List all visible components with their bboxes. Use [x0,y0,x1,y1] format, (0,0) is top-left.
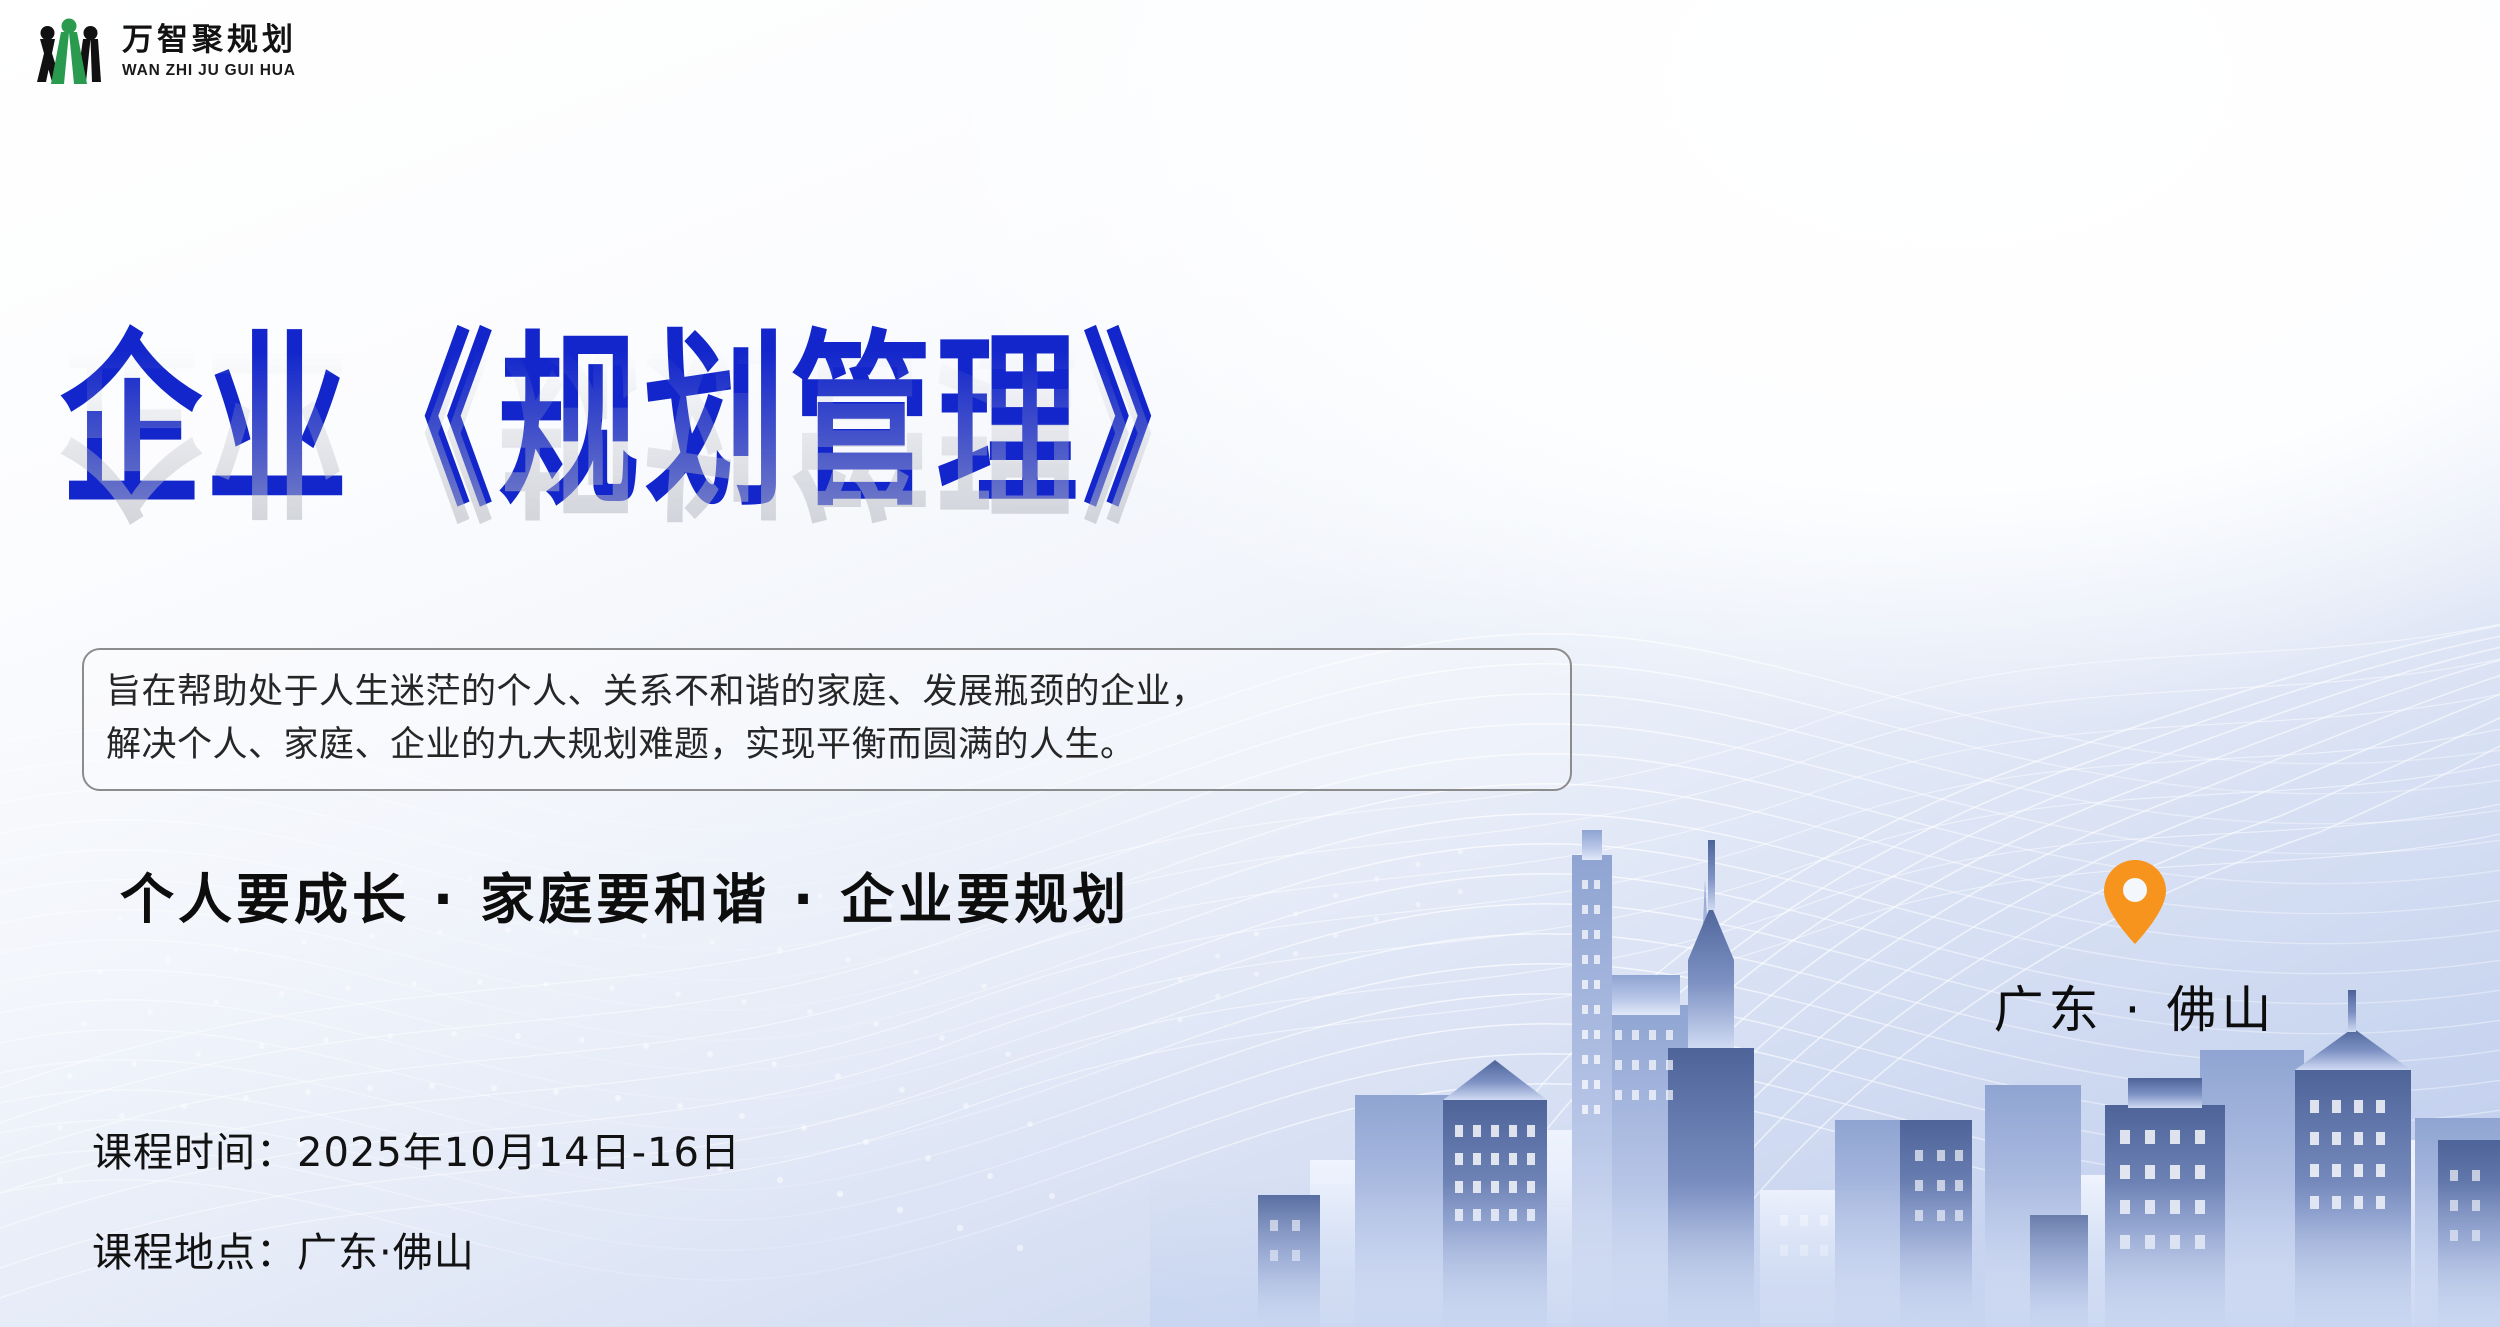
logo-wordmark: 万智聚规划 WAN ZHI JU GUI HUA [122,22,297,79]
three-people-mark-icon [30,14,108,86]
logo-cn-name: 万智聚规划 [122,24,297,55]
description-box: 旨在帮助处于人生迷茫的个人、关系不和谐的家庭、发展瓶颈的企业， 解决个人、家庭、… [82,648,1572,791]
description-line-1: 旨在帮助处于人生迷茫的个人、关系不和谐的家庭、发展瓶颈的企业， [106,666,1548,719]
location-block: 广东 · 佛山 [1955,860,2315,1042]
page-title-reflection: 企业《规划管理》 [60,325,1228,527]
poster-canvas: 万智聚规划 WAN ZHI JU GUI HUA 企业《规划管理》 企业《规划管… [0,0,2500,1327]
logo-en-name: WAN ZHI JU GUI HUA [122,63,297,79]
course-place: 课程地点：广东·佛山 [92,1220,741,1278]
map-pin-icon [2104,860,2166,944]
brand-logo: 万智聚规划 WAN ZHI JU GUI HUA [30,14,297,86]
description-line-2: 解决个人、家庭、企业的九大规划难题，实现平衡而圆满的人生。 [106,719,1548,772]
tagline: 个人要成长 · 家庭要和谐 · 企业要规划 [120,855,1130,934]
course-time: 课程时间：2025年10月14日-16日 [92,1120,741,1178]
hero-title-block: 企业《规划管理》 企业《规划管理》 [60,322,1228,475]
course-info-block: 课程时间：2025年10月14日-16日 课程地点：广东·佛山 [92,1120,741,1278]
location-label: 广东 · 佛山 [1955,970,2315,1042]
